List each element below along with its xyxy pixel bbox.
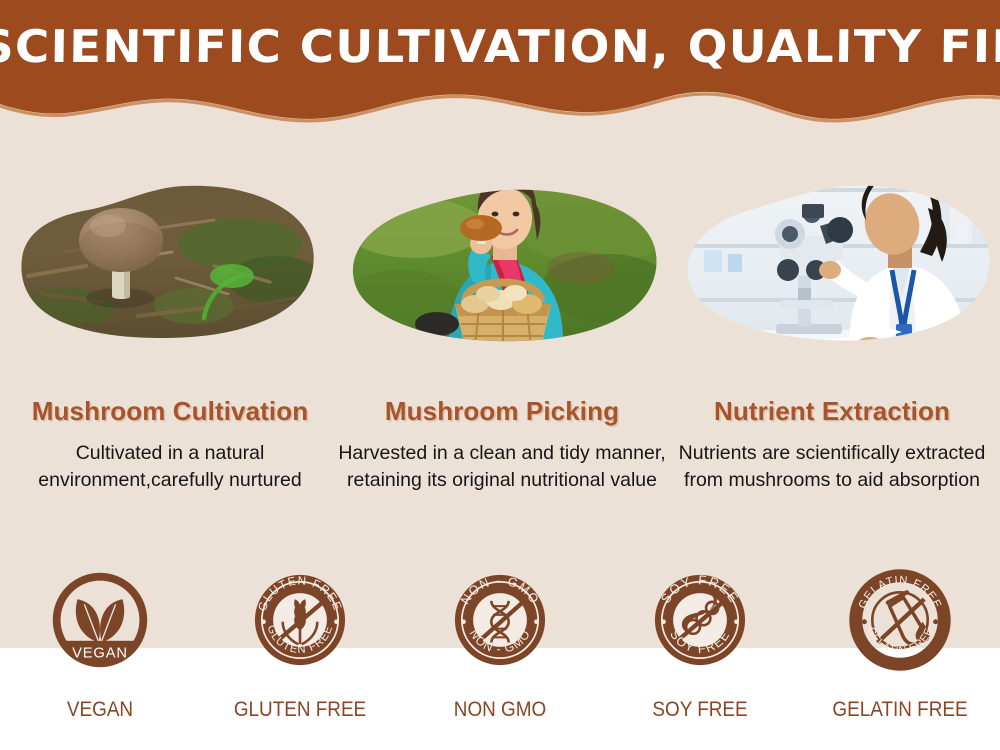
vegan-mark-text: VEGAN <box>72 645 128 661</box>
gluten-free-badge-mark: GLUTEN FREE GLUTEN FREE <box>248 568 352 672</box>
infographic-page: SCIENTIFIC CULTIVATION, QUALITY FIRST <box>0 0 1000 750</box>
badge-gluten-free: GLUTEN FREE GLUTEN FREE <box>200 568 400 693</box>
two-leaves-icon <box>76 599 124 642</box>
feature-title: Mushroom Picking <box>334 396 670 427</box>
certification-badge-row: VEGAN <box>0 568 1000 693</box>
feature-mushroom-picking: Mushroom Picking Harvested in a clean an… <box>334 396 670 494</box>
badge-label-non-gmo: NON GMO <box>410 698 590 722</box>
feature-mushroom-cultivation: Mushroom Cultivation Cultivated in a nat… <box>2 396 338 494</box>
feature-description: Nutrients are scientifically extracted f… <box>664 440 1000 494</box>
gelatin-free-badge-mark: GELATIN FREE GELATIN FREE <box>848 568 952 672</box>
feature-description: Cultivated in a natural environment,care… <box>2 440 338 494</box>
photo-nutrient-extraction <box>680 148 1000 388</box>
badge-label-vegan: VEGAN <box>10 698 190 722</box>
badge-non-gmo: NON - GMO NON - GMO <box>400 568 600 693</box>
page-title: SCIENTIFIC CULTIVATION, QUALITY FIRST <box>0 20 1000 73</box>
badge-soy-free: SOY FREE SOY FREE <box>600 568 800 693</box>
photo-row <box>0 148 1000 388</box>
nutrient-extraction-illustration <box>680 148 1000 388</box>
non-gmo-badge-mark: NON - GMO NON - GMO <box>448 568 552 672</box>
feature-text-row: Mushroom Cultivation Cultivated in a nat… <box>0 396 1000 546</box>
badge-label-gelatin-free: GELATIN FREE <box>810 698 990 722</box>
badge-gelatin-free: GELATIN FREE GELATIN FREE <box>800 568 1000 693</box>
feature-title: Mushroom Cultivation <box>2 396 338 427</box>
feature-nutrient-extraction: Nutrient Extraction Nutrients are scient… <box>664 396 1000 494</box>
mushroom-cultivation-illustration <box>8 148 328 388</box>
certification-label-row: VEGAN GLUTEN FREE NON GMO SOY FREE GELAT… <box>0 698 1000 738</box>
badge-label-gluten-free: GLUTEN FREE <box>210 698 390 722</box>
badge-label-soy-free: SOY FREE <box>610 698 790 722</box>
feature-description: Harvested in a clean and tidy manner, re… <box>334 440 670 494</box>
feature-title: Nutrient Extraction <box>664 396 1000 427</box>
vegan-badge-mark: VEGAN <box>48 568 152 672</box>
header-banner: SCIENTIFIC CULTIVATION, QUALITY FIRST <box>0 0 1000 132</box>
photo-mushroom-picking <box>345 148 665 388</box>
mushroom-picking-illustration <box>345 148 665 388</box>
badge-vegan: VEGAN <box>0 568 200 693</box>
photo-mushroom-cultivation <box>8 148 328 388</box>
soy-free-badge-mark: SOY FREE SOY FREE <box>648 568 752 672</box>
